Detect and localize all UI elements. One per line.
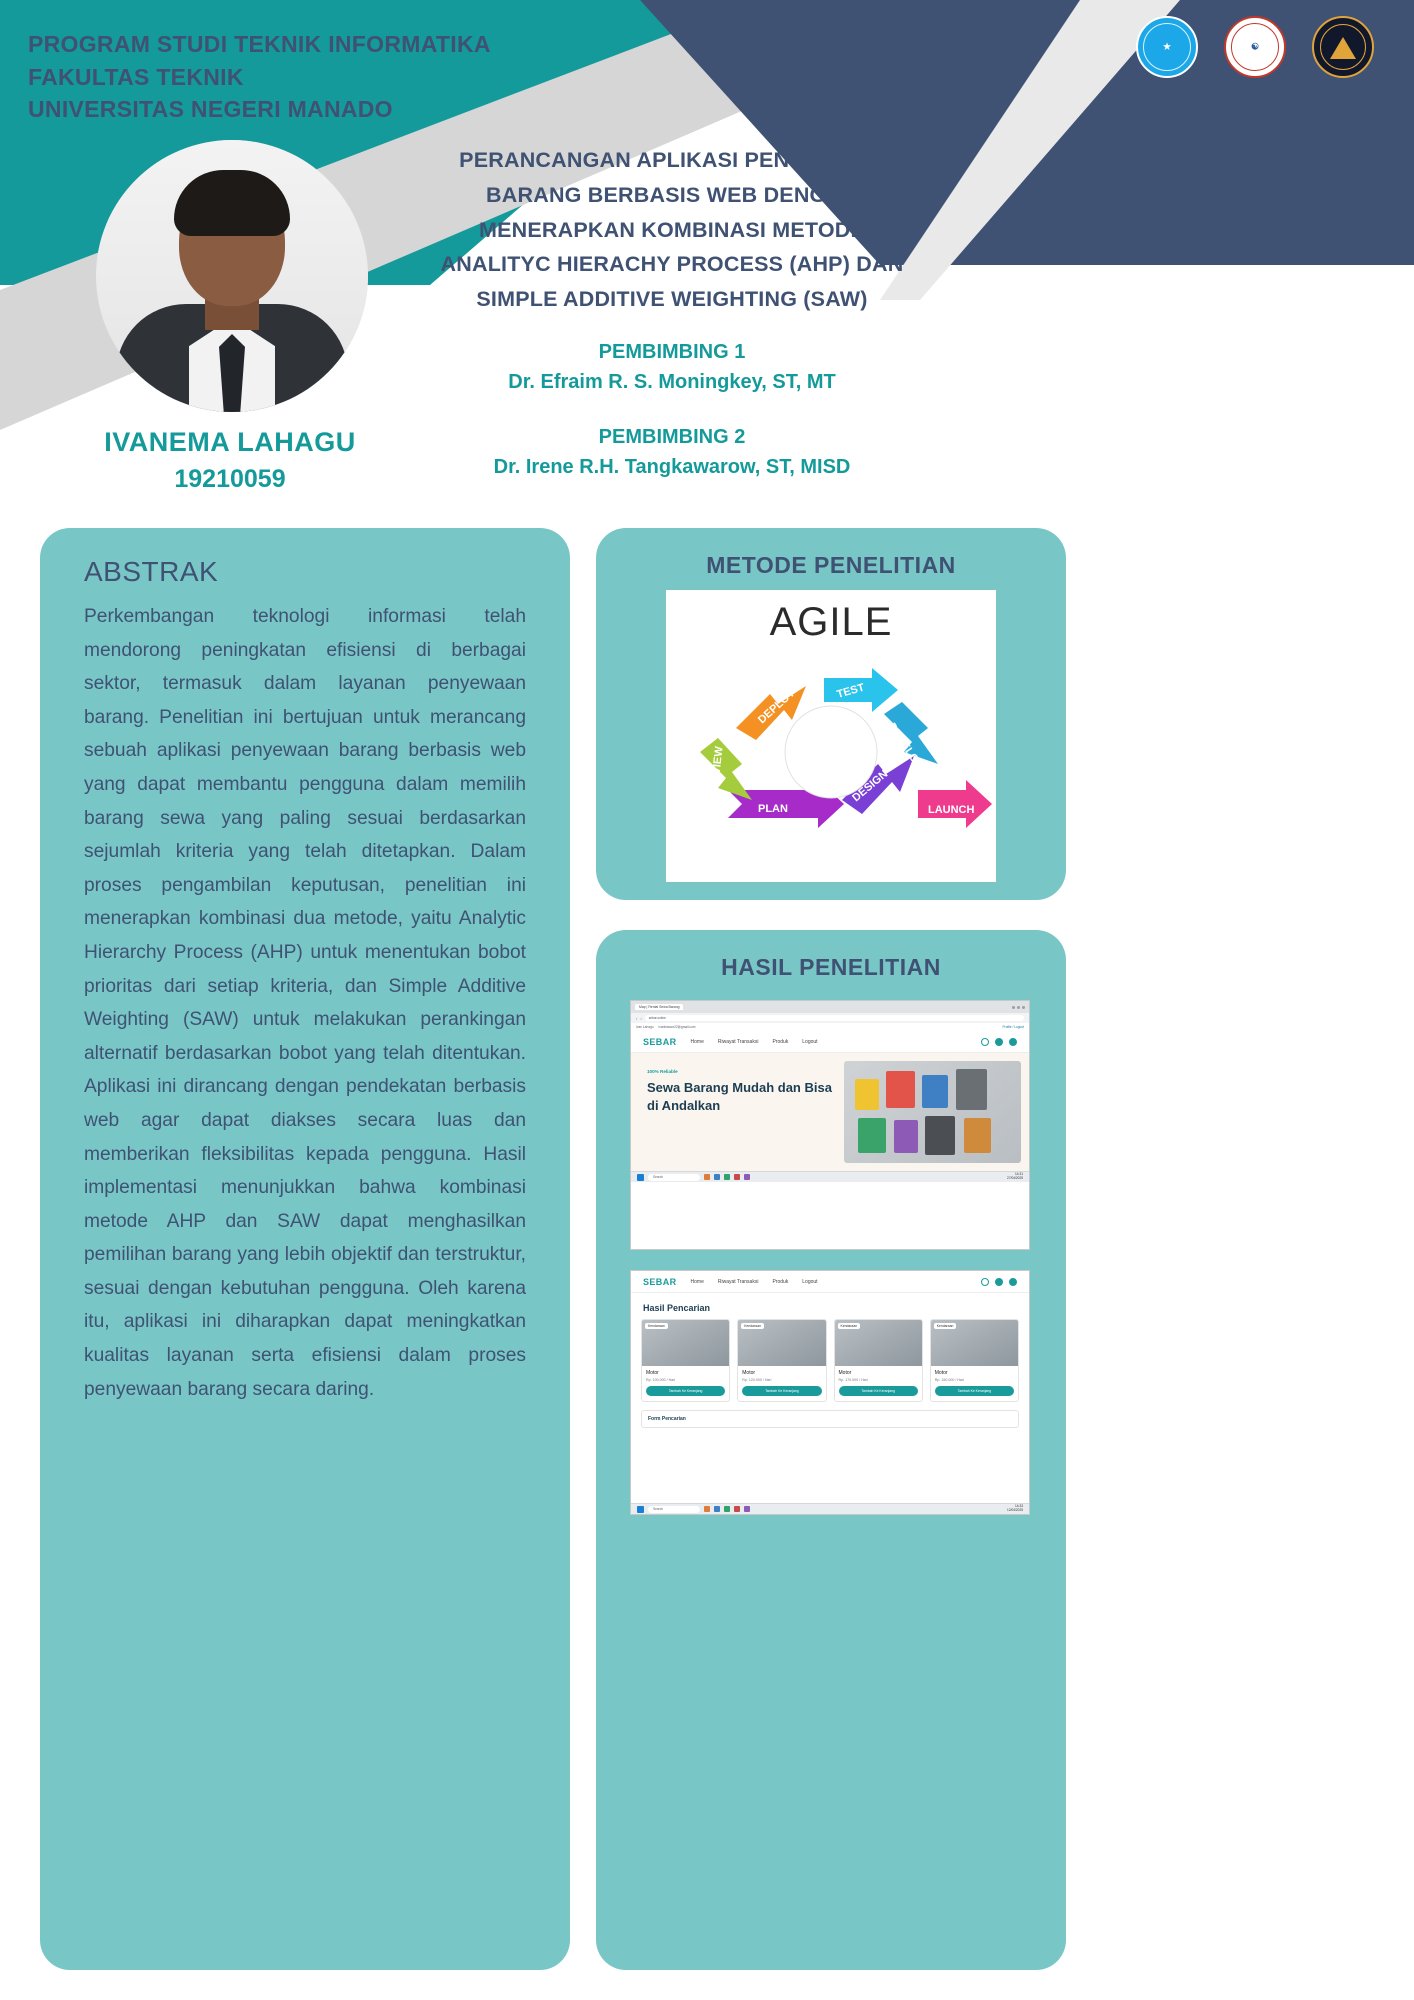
site-content: SEBAR Home Riwayat Transaksi Produk Logo… [631, 1271, 1029, 1428]
product-body: Motor Rp. 120.000 / Hari Tambah Ke Keran… [738, 1366, 825, 1401]
item-thumb [855, 1079, 880, 1110]
prodi-teknik-informatika-logo [1312, 16, 1374, 78]
product-tag: Kendaraan [741, 1323, 764, 1329]
nav-item-logout[interactable]: Logout [802, 1039, 817, 1045]
abstrak-body: Perkembangan teknologi informasi telah m… [84, 600, 526, 1406]
site-navbar: SEBAR Home Riwayat Transaksi Produk Logo… [631, 1031, 1029, 1053]
window-controls[interactable] [1012, 1006, 1025, 1009]
app-icon[interactable] [734, 1174, 740, 1180]
product-price: Rp. 100.000 / Hari [646, 1378, 725, 1382]
product-tag: Kendaraan [934, 1323, 957, 1329]
user-icon[interactable] [1009, 1038, 1017, 1046]
product-price: Rp. 150.000 / Hari [935, 1378, 1014, 1382]
product-body: Motor Rp. 150.000 / Hari Tambah Ke Keran… [931, 1366, 1018, 1401]
nav-item-home[interactable]: Home [691, 1279, 704, 1285]
logo-group: ★ ☯ [1136, 16, 1374, 78]
product-card[interactable]: Kendaraan Motor Rp. 120.000 / Hari Tamba… [737, 1319, 826, 1402]
product-name: Motor [839, 1370, 918, 1376]
institution-line-1: PROGRAM STUDI TEKNIK INFORMATIKA [28, 28, 491, 61]
browser-address-row: ‹ › sebar.online [631, 1013, 1029, 1023]
app-icon[interactable] [714, 1506, 720, 1512]
taskbar-search-input[interactable]: Search [648, 1506, 700, 1513]
app-icon[interactable] [714, 1174, 720, 1180]
search-results-screenshot: SEBAR Home Riwayat Transaksi Produk Logo… [630, 1270, 1030, 1515]
product-name: Motor [935, 1370, 1014, 1376]
product-grid: Kendaraan Motor Rp. 100.000 / Hari Tamba… [631, 1319, 1029, 1402]
nav-item-produk[interactable]: Produk [772, 1279, 788, 1285]
navbar-icons [981, 1278, 1017, 1286]
agile-cycle-svg: DEPLOY TEST DEVELOP LAUNCH DESIGN PLAN R… [666, 642, 996, 878]
agile-title: AGILE [666, 600, 996, 645]
student-block: IVANEMA LAHAGU 19210059 [20, 424, 440, 497]
supervisor-1-name: Dr. Efraim R. S. Moningkey, ST, MT [392, 367, 952, 397]
product-name: Motor [646, 1370, 725, 1376]
institution-line-2: FAKULTAS TEKNIK [28, 61, 491, 94]
title-line-3: MENERAPKAN KOMBINASI METODE [392, 213, 952, 248]
product-price: Rp. 120.000 / Hari [742, 1378, 821, 1382]
institution-line-3: UNIVERSITAS NEGERI MANADO [28, 93, 491, 126]
supervisor-1-block: PEMBIMBING 1 Dr. Efraim R. S. Moningkey,… [392, 337, 952, 397]
student-name: IVANEMA LAHAGU [20, 424, 440, 462]
cart-icon[interactable] [995, 1278, 1003, 1286]
agile-stage-review-shape [700, 738, 752, 800]
product-price: Rp. 170.000 / Hari [839, 1378, 918, 1382]
product-image: Kendaraan [835, 1320, 922, 1366]
navbar-icons [981, 1038, 1017, 1046]
app-icon[interactable] [704, 1506, 710, 1512]
add-to-cart-button[interactable]: Tambah Ke Keranjang [935, 1386, 1014, 1396]
app-icon[interactable] [724, 1174, 730, 1180]
product-image: Kendaraan [931, 1320, 1018, 1366]
cart-icon[interactable] [995, 1038, 1003, 1046]
hero-heading: Sewa Barang Mudah dan Bisa di Andalkan [647, 1079, 844, 1116]
taskbar-search-input[interactable]: Search [648, 1174, 700, 1181]
metode-penelitian-card: METODE PENELITIAN AGILE DEPLOY TEST DEVE… [596, 528, 1066, 900]
item-thumb [964, 1118, 991, 1153]
supervisor-1-role: PEMBIMBING 1 [392, 337, 952, 367]
nav-item-riwayat[interactable]: Riwayat Transaksi [718, 1039, 759, 1045]
site-logo[interactable]: SEBAR [643, 1277, 677, 1287]
url-input[interactable]: sebar.online [645, 1015, 1024, 1021]
hasil-heading: HASIL PENELITIAN [596, 954, 1066, 981]
product-image: Kendaraan [642, 1320, 729, 1366]
product-tag: Kendaraan [645, 1323, 668, 1329]
item-thumb [922, 1075, 949, 1108]
app-icon[interactable] [744, 1174, 750, 1180]
app-icon[interactable] [734, 1506, 740, 1512]
title-line-5: SIMPLE ADDITIVE WEIGHTING (SAW) [392, 282, 952, 317]
app-icon[interactable] [724, 1506, 730, 1512]
nav-item-produk[interactable]: Produk [772, 1039, 788, 1045]
minimize-icon[interactable] [1012, 1006, 1015, 1009]
search-form-box[interactable]: Form Pencarian [641, 1410, 1019, 1428]
item-thumb [956, 1069, 988, 1110]
close-icon[interactable] [1022, 1006, 1025, 1009]
taskbar-date: 27/04/2025 [1007, 1177, 1023, 1181]
section-title: Hasil Pencarian [631, 1293, 1029, 1319]
logo-triangle [1330, 37, 1356, 59]
app-icon[interactable] [744, 1506, 750, 1512]
supervisor-2-name: Dr. Irene R.H. Tangkawarow, ST, MISD [392, 452, 952, 482]
site-navbar: SEBAR Home Riwayat Transaksi Produk Logo… [631, 1271, 1029, 1293]
site-logo[interactable]: SEBAR [643, 1037, 677, 1047]
bookmark-item[interactable]: ivanlewazz22@gmail.com [659, 1025, 696, 1029]
windows-taskbar: Search 14:33 12/04/2025 [631, 1503, 1029, 1514]
hero-text: 100% Reliable Sewa Barang Mudah dan Bisa… [631, 1053, 844, 1171]
windows-taskbar: Search 14:31 27/04/2025 [631, 1171, 1029, 1182]
institution-block: PROGRAM STUDI TEKNIK INFORMATIKA FAKULTA… [28, 28, 491, 126]
start-icon[interactable] [637, 1506, 644, 1513]
nav-item-home[interactable]: Home [691, 1039, 704, 1045]
bookmark-item[interactable]: Ivan Lahagu [636, 1025, 654, 1029]
agile-label-plan: PLAN [758, 803, 788, 815]
item-thumb [858, 1118, 886, 1153]
site-content: SEBAR Home Riwayat Transaksi Produk Logo… [631, 1031, 1029, 1171]
app-icon[interactable] [704, 1174, 710, 1180]
product-body: Motor Rp. 170.000 / Hari Tambah Ke Keran… [835, 1366, 922, 1401]
account-link[interactable]: Profile / Logout [1003, 1025, 1024, 1029]
abstrak-heading: ABSTRAK [84, 556, 218, 588]
title-line-1: PERANCANGAN APLIKASI PENYEWAAN [392, 143, 952, 178]
hero-image-wrap [844, 1053, 1029, 1171]
hasil-penelitian-card: HASIL PENELITIAN Map | Rental Sewa Baran… [596, 930, 1066, 1970]
product-body: Motor Rp. 100.000 / Hari Tambah Ke Keran… [642, 1366, 729, 1401]
avatar [96, 140, 368, 412]
taskbar-date: 12/04/2025 [1007, 1509, 1023, 1513]
logo-core: ★ [1163, 43, 1171, 52]
product-name: Motor [742, 1370, 821, 1376]
back-icon[interactable]: ‹ [636, 1016, 637, 1021]
bookmark-bar: Ivan Lahagu ivanlewazz22@gmail.com Profi… [631, 1023, 1029, 1031]
product-card[interactable]: Kendaraan Motor Rp. 170.000 / Hari Tamba… [834, 1319, 923, 1402]
product-tag: Kendaraan [838, 1323, 861, 1329]
add-to-cart-button[interactable]: Tambah Ke Keranjang [742, 1386, 821, 1396]
product-card[interactable]: Kendaraan Motor Rp. 100.000 / Hari Tamba… [641, 1319, 730, 1402]
student-nim: 19210059 [20, 462, 440, 497]
product-card[interactable]: Kendaraan Motor Rp. 150.000 / Hari Tamba… [930, 1319, 1019, 1402]
hero-section: 100% Reliable Sewa Barang Mudah dan Bisa… [631, 1053, 1029, 1171]
nav-item-logout[interactable]: Logout [802, 1279, 817, 1285]
tut-wuri-handayani-logo: ★ [1136, 16, 1198, 78]
start-icon[interactable] [637, 1174, 644, 1181]
user-icon[interactable] [1009, 1278, 1017, 1286]
maximize-icon[interactable] [1017, 1006, 1020, 1009]
browser-tab[interactable]: Map | Rental Sewa Barang [635, 1004, 683, 1010]
hero-badge: 100% Reliable [647, 1069, 844, 1074]
search-icon[interactable] [981, 1278, 989, 1286]
product-image: Kendaraan [738, 1320, 825, 1366]
avatar-tie [219, 334, 245, 412]
item-thumb [925, 1116, 955, 1155]
supervisor-2-block: PEMBIMBING 2 Dr. Irene R.H. Tangkawarow,… [392, 422, 952, 482]
page-title: PERANCANGAN APLIKASI PENYEWAAN BARANG BE… [392, 143, 952, 317]
landing-page-screenshot: Map | Rental Sewa Barang ‹ › sebar.onlin… [630, 1000, 1030, 1250]
taskbar-clock: 14:33 12/04/2025 [1007, 1505, 1023, 1513]
nav-item-riwayat[interactable]: Riwayat Transaksi [718, 1279, 759, 1285]
item-thumb [886, 1071, 914, 1108]
metode-heading: METODE PENELITIAN [596, 552, 1066, 579]
item-thumb [894, 1120, 919, 1153]
taskbar-clock: 14:31 27/04/2025 [1007, 1173, 1023, 1181]
logo-core: ☯ [1251, 43, 1259, 52]
abstrak-card: ABSTRAK Perkembangan teknologi informasi… [40, 528, 570, 1970]
agile-label-launch: LAUNCH [928, 804, 974, 816]
search-icon[interactable] [981, 1038, 989, 1046]
hero-image [844, 1061, 1021, 1163]
add-to-cart-button[interactable]: Tambah Ke Keranjang [839, 1386, 918, 1396]
title-line-2: BARANG BERBASIS WEB DENGAN [392, 178, 952, 213]
agile-diagram: AGILE DEPLOY TEST DEVELOP LAUNCH DESIGN … [666, 590, 996, 882]
add-to-cart-button[interactable]: Tambah Ke Keranjang [646, 1386, 725, 1396]
forward-icon[interactable]: › [640, 1016, 641, 1021]
supervisor-2-role: PEMBIMBING 2 [392, 422, 952, 452]
title-line-4: ANALITYC HIERACHY PROCESS (AHP) DAN [392, 247, 952, 282]
browser-tab-strip: Map | Rental Sewa Barang [631, 1001, 1029, 1013]
unima-tondano-logo: ☯ [1224, 16, 1286, 78]
